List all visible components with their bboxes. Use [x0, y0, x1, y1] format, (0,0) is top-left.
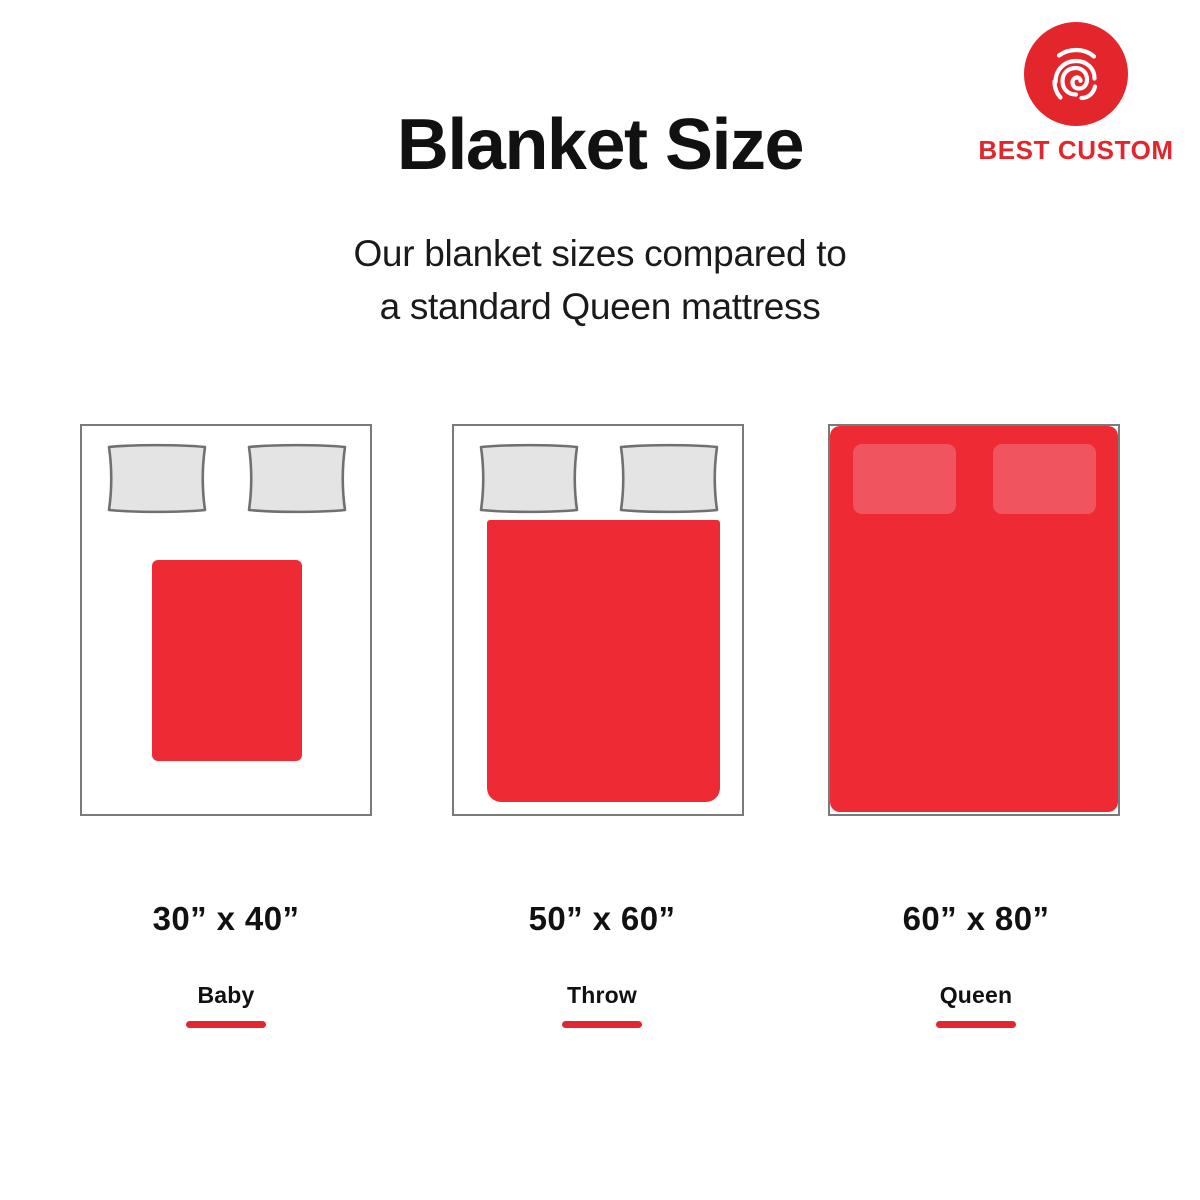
- page-subtitle: Our blanket sizes compared to a standard…: [0, 228, 1200, 333]
- pillow-icon-right-baby: [245, 443, 349, 514]
- blanket-overlay-queen: [830, 426, 1118, 812]
- blanket-overlay-baby: [152, 560, 302, 761]
- accent-underline-throw: [562, 1021, 642, 1028]
- size-name-throw: Throw: [422, 982, 782, 1009]
- page-title: Blanket Size: [0, 108, 1200, 184]
- subtitle-line-2: a standard Queen mattress: [0, 281, 1200, 334]
- size-name-baby: Baby: [46, 982, 406, 1009]
- caption-throw: 50” x 60” Throw: [422, 900, 782, 1028]
- bed-diagram-baby: [80, 424, 372, 816]
- subtitle-line-1: Our blanket sizes compared to: [0, 228, 1200, 281]
- infographic-canvas: BEST CUSTOM Blanket Size Our blanket siz…: [0, 0, 1200, 1200]
- accent-underline-queen: [936, 1021, 1016, 1028]
- pillow-icon-right-queen: [993, 444, 1096, 514]
- bed-diagram-throw: [452, 424, 744, 816]
- bed-comparison-row: [0, 424, 1200, 816]
- dimensions-label-throw: 50” x 60”: [422, 900, 782, 938]
- dimensions-label-queen: 60” x 80”: [796, 900, 1156, 938]
- accent-underline-baby: [186, 1021, 266, 1028]
- dimensions-label-baby: 30” x 40”: [46, 900, 406, 938]
- pillow-icon-right-throw: [617, 443, 721, 514]
- caption-baby: 30” x 40” Baby: [46, 900, 406, 1028]
- bed-diagram-queen: [828, 424, 1120, 816]
- caption-queen: 60” x 80” Queen: [796, 900, 1156, 1028]
- blanket-overlay-throw: [487, 520, 720, 802]
- pillow-icon-left-throw: [477, 443, 581, 514]
- size-name-queen: Queen: [796, 982, 1156, 1009]
- pillow-icon-left-baby: [105, 443, 209, 514]
- pillow-icon-left-queen: [853, 444, 956, 514]
